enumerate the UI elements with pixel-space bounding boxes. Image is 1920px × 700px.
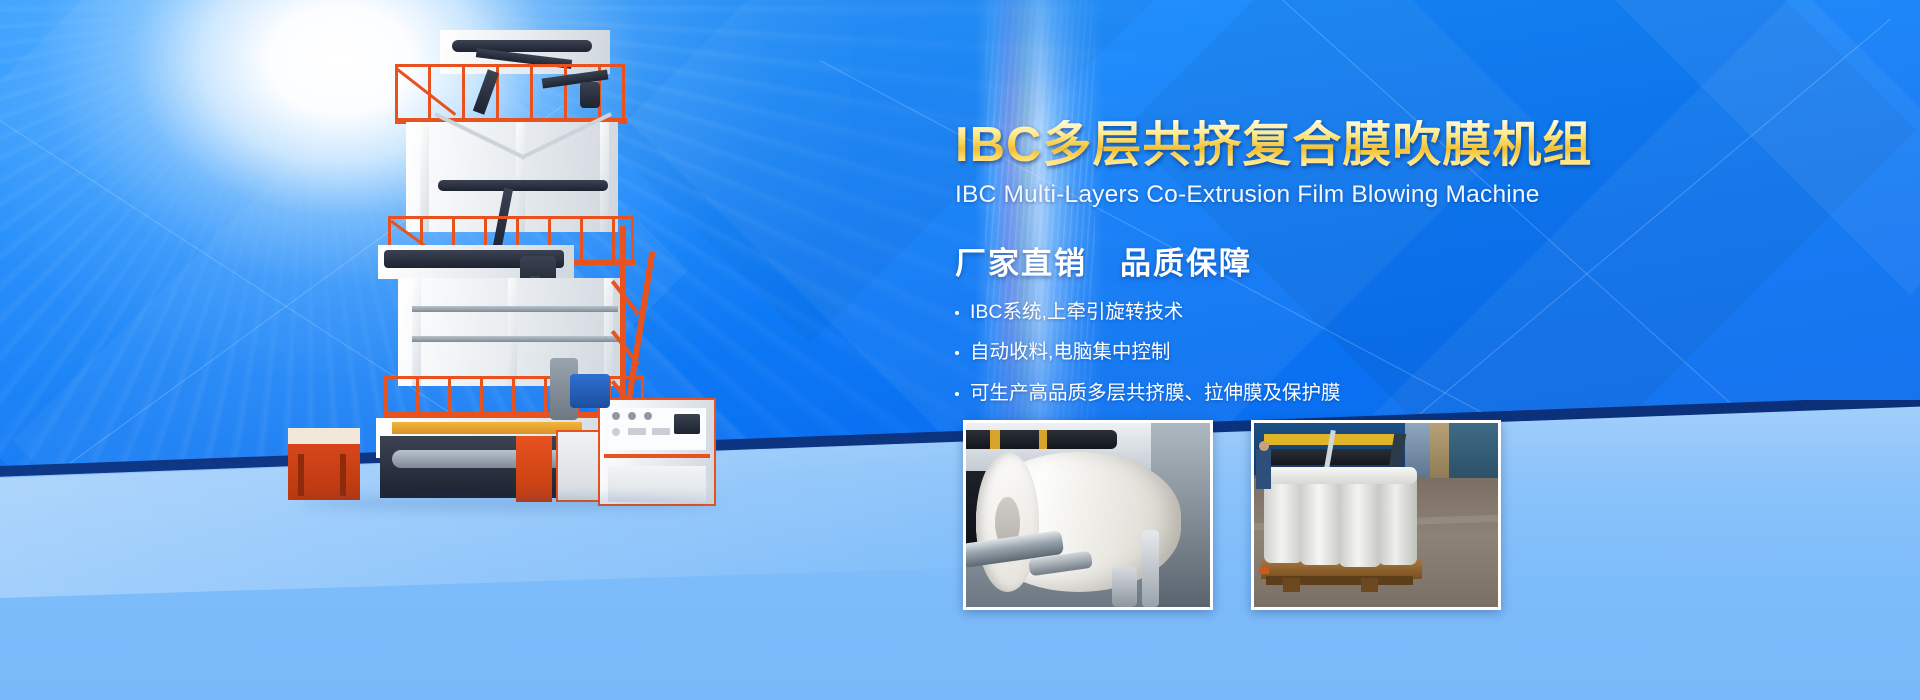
bullet-dot-icon xyxy=(955,392,959,396)
list-item: IBC系统,上牵引旋转技术 xyxy=(955,303,1675,323)
product-photo-pallet-rolls[interactable] xyxy=(1251,420,1501,610)
film-roll xyxy=(1378,471,1417,565)
feature-list: IBC系统,上牵引旋转技术 自动收料,电脑集中控制 可生产高品质多层共挤膜、拉伸… xyxy=(955,303,1675,404)
banner-copy: IBC多层共挤复合膜吹膜机组 IBC Multi-Layers Co-Extru… xyxy=(955,120,1675,424)
page-title: IBC多层共挤复合膜吹膜机组 xyxy=(955,120,1675,172)
promo-banner: IBC多层共挤复合膜吹膜机组 IBC Multi-Layers Co-Extru… xyxy=(0,0,1920,700)
feature-text: 自动收料,电脑集中控制 xyxy=(970,343,1170,363)
slogan: 厂家直销 品质保障 xyxy=(955,238,1675,283)
list-item: 可生产高品质多层共挤膜、拉伸膜及保护膜 xyxy=(955,384,1675,404)
film-blowing-machine-illustration xyxy=(280,30,750,530)
product-photo-film-roll[interactable] xyxy=(963,420,1213,610)
list-item: 自动收料,电脑集中控制 xyxy=(955,343,1675,363)
page-subtitle: IBC Multi-Layers Co-Extrusion Film Blowi… xyxy=(955,181,1675,209)
feature-text: 可生产高品质多层共挤膜、拉伸膜及保护膜 xyxy=(970,384,1341,404)
bullet-dot-icon xyxy=(955,311,959,315)
bullet-dot-icon xyxy=(955,351,959,355)
feature-text: IBC系统,上牵引旋转技术 xyxy=(970,303,1183,323)
